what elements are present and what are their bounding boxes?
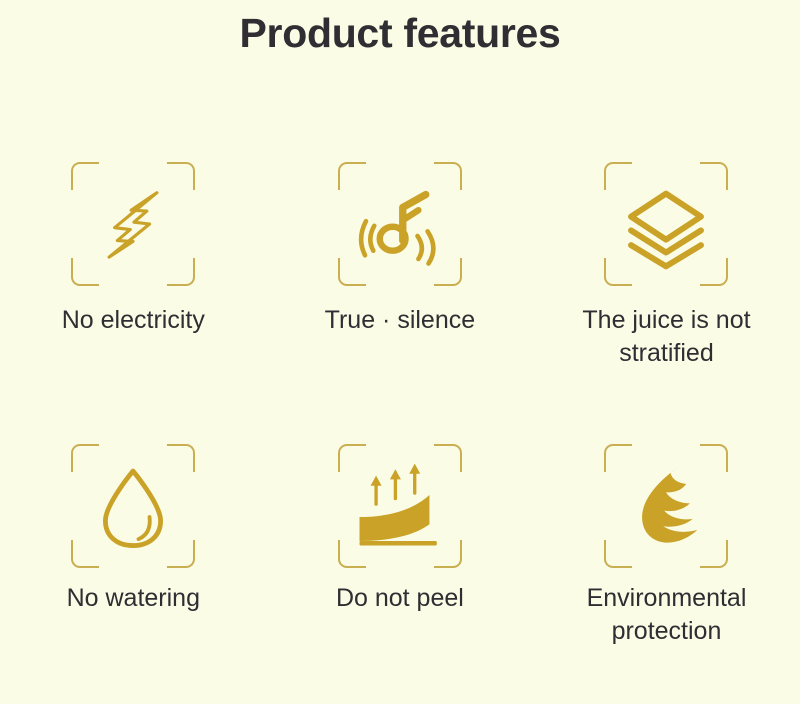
- feature-label: No watering: [8, 582, 258, 615]
- feature-item-no-electricity: No electricity: [0, 140, 267, 422]
- feature-row: No watering: [0, 422, 800, 704]
- feature-item-environmental-protection: Environmental protection: [533, 422, 800, 704]
- feature-item-do-not-peel: Do not peel: [267, 422, 534, 704]
- icon-frame: [71, 162, 195, 286]
- feature-grid: No electricity: [0, 140, 800, 704]
- product-features-page: Product features No electricity: [0, 0, 800, 643]
- icon-frame: [604, 444, 728, 568]
- icon-frame: [338, 162, 462, 286]
- icon-frame: [71, 444, 195, 568]
- feature-item-not-stratified: The juice is not stratified: [533, 140, 800, 422]
- feature-item-true-silence: True · silence: [267, 140, 534, 422]
- leaf-icon: [620, 460, 712, 552]
- feature-item-no-watering: No watering: [0, 422, 267, 704]
- music-note-sound-icon: [354, 178, 446, 270]
- icon-frame: [338, 444, 462, 568]
- icon-frame: [604, 162, 728, 286]
- feature-label: The juice is not stratified: [541, 304, 791, 370]
- feature-row: No electricity: [0, 140, 800, 422]
- feature-label: Environmental protection: [541, 582, 791, 648]
- feature-label: Do not peel: [275, 582, 525, 615]
- feature-label: True · silence: [275, 304, 525, 337]
- water-droplet-icon: [87, 460, 179, 552]
- peel-arrows-icon: [354, 460, 446, 552]
- feature-label: No electricity: [8, 304, 258, 337]
- layers-icon: [620, 178, 712, 270]
- lightning-bolt-icon: [87, 178, 179, 270]
- page-title: Product features: [0, 6, 800, 60]
